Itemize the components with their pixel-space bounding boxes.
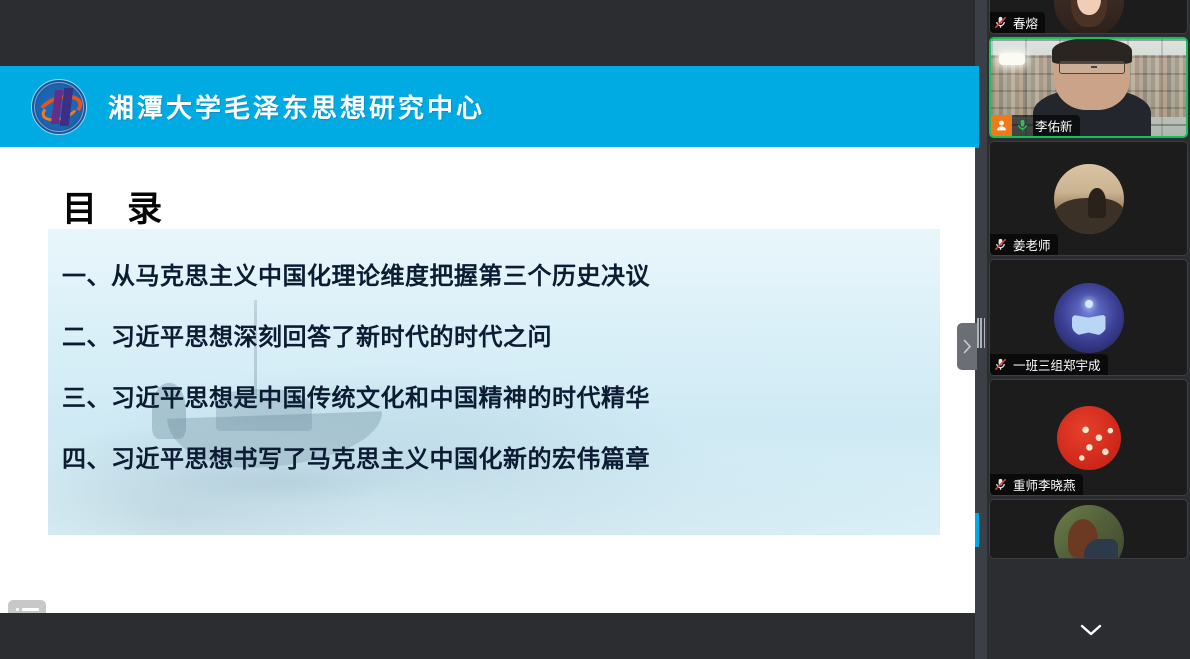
participant-name: 重师李晓燕 [1013, 475, 1076, 494]
participant-video-strip[interactable]: 春熔 [987, 0, 1190, 659]
slide-banner: 湘潭大学毛泽东思想研究中心 [0, 66, 975, 147]
xiangtan-university-emblem-icon [31, 79, 87, 135]
slide-body: 目 录 一、从马克思主义中国化理论维度把握第三个历史决议 二、习近平思想深刻回答… [0, 147, 975, 613]
scroll-down-button[interactable] [1076, 619, 1106, 641]
list-menu-icon[interactable] [8, 600, 46, 613]
slide-toc-list: 一、从马克思主义中国化理论维度把握第三个历史决议 二、习近平思想深刻回答了新时代… [48, 229, 940, 473]
mic-muted-icon [990, 234, 1011, 255]
avatar [1054, 164, 1124, 234]
chevron-right-icon [963, 339, 972, 354]
participant-namebar: 春熔 [990, 12, 1045, 33]
host-person-icon [991, 115, 1012, 136]
scrollbar-grip[interactable] [977, 318, 985, 348]
mic-muted-icon [990, 12, 1011, 33]
participant-namebar: 李佑新 [991, 115, 1080, 136]
meeting-screen-share-window: 湘潭大学毛泽东思想研究中心 目 录 一、从马克思主义中国化理论维度把握第三个历史… [0, 0, 1190, 659]
avatar [1054, 0, 1124, 34]
slide-banner-title: 湘潭大学毛泽东思想研究中心 [108, 88, 485, 125]
mic-muted-icon [990, 354, 1011, 375]
participant-avatar-wrap [990, 500, 1187, 558]
slide-toc-panel: 一、从马克思主义中国化理论维度把握第三个历史决议 二、习近平思想深刻回答了新时代… [48, 229, 940, 535]
avatar [1054, 505, 1124, 559]
avatar [1054, 283, 1124, 353]
slide-heading-table-of-contents: 目 录 [62, 181, 171, 232]
participant-name: 春熔 [1013, 13, 1038, 32]
participant-name: 一班三组郑宇成 [1013, 355, 1101, 374]
participant-tile[interactable]: 春熔 [989, 0, 1188, 34]
participant-tile[interactable]: 一班三组郑宇成 [989, 259, 1188, 376]
participant-tile-active-speaker[interactable]: 李佑新 [989, 37, 1188, 138]
mic-muted-icon [990, 474, 1011, 495]
avatar [1054, 403, 1124, 473]
participant-name: 姜老师 [1013, 235, 1051, 254]
participant-name: 李佑新 [1035, 116, 1073, 135]
participant-tile[interactable]: 重师李晓燕 [989, 379, 1188, 496]
participant-tile-partial[interactable] [989, 499, 1188, 559]
toc-item-2: 二、习近平思想深刻回答了新时代的时代之问 [62, 324, 940, 351]
participant-namebar: 一班三组郑宇成 [990, 354, 1108, 375]
toc-item-4: 四、习近平思想书写了马克思主义中国化新的宏伟篇章 [62, 446, 940, 473]
shared-screen-area[interactable]: 湘潭大学毛泽东思想研究中心 目 录 一、从马克思主义中国化理论维度把握第三个历史… [0, 0, 975, 659]
panel-collapse-handle[interactable] [957, 323, 977, 370]
toc-item-1: 一、从马克思主义中国化理论维度把握第三个历史决议 [62, 263, 940, 290]
participant-tile[interactable]: 姜老师 [989, 141, 1188, 256]
toc-item-3: 三、习近平思想是中国传统文化和中国精神的时代精华 [62, 385, 940, 412]
presentation-slide[interactable]: 湘潭大学毛泽东思想研究中心 目 录 一、从马克思主义中国化理论维度把握第三个历史… [0, 66, 975, 613]
participant-namebar: 重师李晓燕 [990, 474, 1083, 495]
participant-namebar: 姜老师 [990, 234, 1058, 255]
chevron-down-icon [1079, 623, 1103, 637]
mic-on-icon [1012, 115, 1033, 136]
